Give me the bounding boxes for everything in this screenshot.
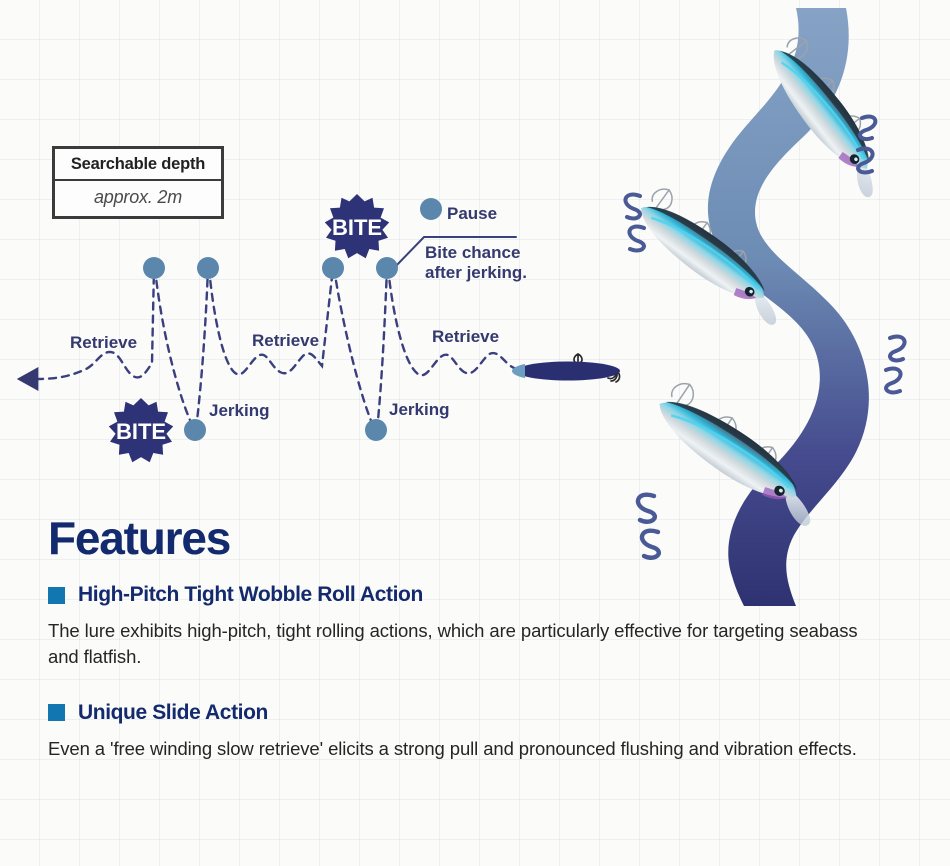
pause-label: Pause [447,204,497,223]
feature-body: Even a 'free winding slow retrieve' elic… [48,736,878,762]
feature-heading-row: High-Pitch Tight Wobble Roll Action [48,583,908,607]
features-section: Features High-Pitch Tight Wobble Roll Ac… [48,515,908,762]
bite-badge: BITE [109,398,173,462]
features-title: Features [48,515,908,561]
jerk-bottom-dot [365,419,387,441]
feature-body: The lure exhibits high-pitch, tight roll… [48,618,878,671]
motion-squiggle [886,337,905,393]
jerk-top-dot [143,257,165,279]
lure-body [647,386,808,515]
retrieve-label: Retrieve [70,333,137,352]
pause-note-line1: Bite chance [425,243,520,262]
jerking-label: Jerking [209,401,269,420]
motion-squiggle [625,195,644,251]
bite-badge-label: BITE [332,215,382,240]
jerking-label: Jerking [389,400,449,419]
feature-heading: High-Pitch Tight Wobble Roll Action [78,583,423,607]
square-bullet-icon [48,704,65,721]
feature-heading: Unique Slide Action [78,701,268,725]
retrieve-label: Retrieve [252,331,319,350]
feature-item: High-Pitch Tight Wobble Roll Action The … [48,583,908,671]
jerk-top-dot [322,257,344,279]
retrieve-action-diagram: BITE BITE Retrieve Retrieve Retrieve Jer… [0,0,660,470]
feature-heading-row: Unique Slide Action [48,701,908,725]
square-bullet-icon [48,587,65,604]
retrieve-label: Retrieve [432,327,499,346]
lure-tail [512,364,525,378]
feature-item: Unique Slide Action Even a 'free winding… [48,701,908,762]
bite-badge: BITE [325,194,389,258]
pause-note-line2: after jerking. [425,263,527,282]
pause-dot [420,198,442,220]
bite-badge-label: BITE [116,419,166,444]
jerk-bottom-dot [184,419,206,441]
jerk-top-dot [376,257,398,279]
jerk-top-dot [197,257,219,279]
infographic-stage: Searchable depth approx. 2m [0,0,950,866]
